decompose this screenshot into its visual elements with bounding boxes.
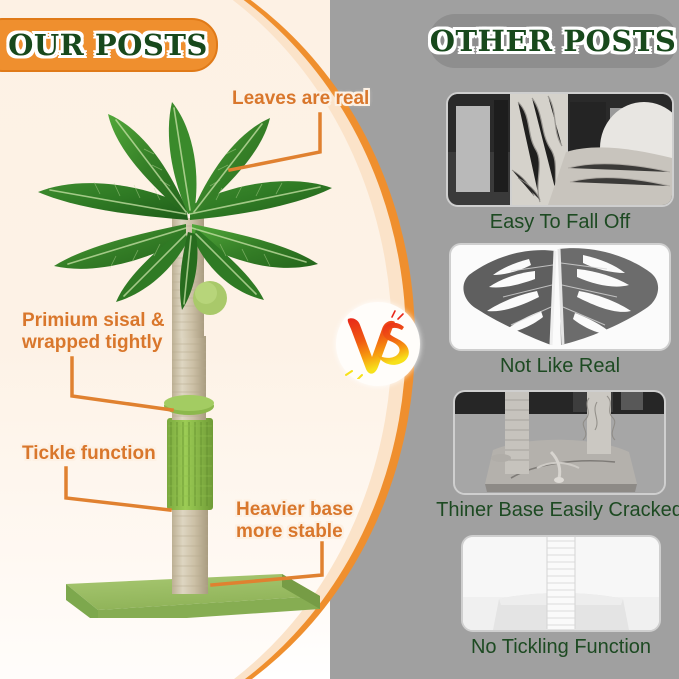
our-posts-header: OUR POSTS (0, 18, 218, 72)
grayscale-monstera-leaf-photo (451, 245, 669, 349)
card-caption-no-tickle: No Tickling Function (461, 636, 661, 659)
other-posts-header-label: OTHER POSTS (430, 24, 677, 58)
vs-badge (336, 302, 420, 386)
other-post-card-not-real: Not Like Real (449, 243, 671, 378)
grayscale-worn-post-photo (448, 94, 672, 205)
other-post-card-no-tickle: No Tickling Function (461, 535, 661, 659)
pom-pom-ball (193, 281, 227, 315)
other-posts-header: OTHER POSTS (429, 14, 677, 68)
vs-icon (342, 309, 414, 379)
other-post-card-fall-off: Easy To Fall Off (446, 92, 674, 234)
photo-frame-no-tickle (461, 535, 661, 632)
leader-line-base (210, 541, 340, 601)
our-posts-header-label: OUR POSTS (0, 28, 208, 62)
leader-line-sisal (68, 356, 198, 426)
annotation-heavier-base: Heavier base more stable (236, 499, 353, 544)
photo-frame-fall-off (446, 92, 674, 207)
leader-line-leaves (228, 108, 348, 188)
card-caption-not-real: Not Like Real (449, 355, 671, 378)
card-caption-thin-base: Thiner Base Easily Cracked (393, 499, 679, 522)
card-caption-fall-off: Easy To Fall Off (446, 211, 674, 234)
photo-frame-not-real (449, 243, 671, 351)
other-post-card-thin-base: Thiner Base Easily Cracked (453, 390, 666, 522)
annotation-tickle-function: Tickle function (22, 443, 156, 465)
grayscale-cracked-base-photo (455, 392, 664, 493)
annotation-leaves-are-real: Leaves are real (232, 88, 369, 110)
photo-frame-thin-base (453, 390, 666, 495)
comparison-infographic: OUR POSTS OTHER POSTS (0, 0, 679, 679)
annotation-primium-sisal: Primium sisal & wrapped tightly (22, 310, 165, 355)
leader-line-tickle (62, 466, 192, 526)
white-post-base-photo (463, 537, 659, 630)
